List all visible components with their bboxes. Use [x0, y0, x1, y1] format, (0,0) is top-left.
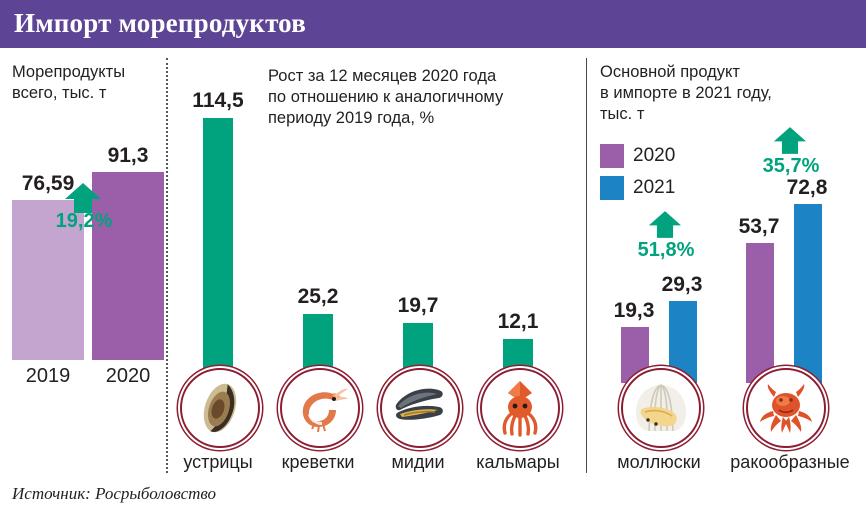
species-name-squid: кальмары	[458, 452, 578, 473]
legend-label-2021: 2021	[633, 177, 675, 199]
panel-growth-caption: Рост за 12 месяцев 2020 года по отношени…	[268, 66, 580, 129]
legend-label-2020: 2020	[633, 145, 675, 167]
crustaceans-bar-2020	[746, 243, 774, 383]
species-name-molluscs: моллюски	[599, 452, 719, 473]
species-medallion-mussels	[380, 368, 460, 448]
molluscs-growth-pct: 51,8%	[620, 239, 712, 262]
species-medallion-squid	[480, 368, 560, 448]
species-medallion-shrimp	[280, 368, 360, 448]
species-medallion-molluscs	[621, 368, 701, 448]
source-note: Источник: Росрыболовство	[12, 484, 216, 504]
molluscs-value-2021: 29,3	[656, 273, 708, 297]
legend-swatch-2020	[600, 144, 624, 168]
page-title: Импорт морепродуктов	[14, 8, 306, 39]
legend-item-2021: 2021	[600, 176, 675, 200]
squid-icon	[491, 379, 549, 437]
shrimp-icon	[291, 379, 349, 437]
molluscs-value-2020: 19,3	[608, 299, 660, 323]
panel-main-caption: Основной продукт в импорте в 2021 году, …	[600, 62, 850, 125]
total-value-2020: 91,3	[80, 144, 176, 168]
legend-swatch-2021	[600, 176, 624, 200]
divider-right	[586, 58, 587, 473]
growth-value-shrimp: 25,2	[283, 285, 353, 309]
total-growth-pct: 19,2%	[48, 210, 120, 233]
total-year-2019: 2019	[12, 365, 84, 388]
legend-item-2020: 2020	[600, 144, 675, 168]
crustaceans-value-2020: 53,7	[733, 215, 785, 239]
crustaceans-growth-pct: 35,7%	[745, 155, 837, 178]
growth-value-oysters: 114,5	[176, 89, 260, 113]
crustaceans-bar-2021	[794, 204, 822, 383]
mussel-icon	[391, 379, 449, 437]
species-medallion-crustaceans	[746, 368, 826, 448]
growth-value-mussels: 19,7	[383, 294, 453, 318]
total-year-2020: 2020	[92, 365, 164, 388]
divider-left	[166, 58, 168, 473]
infographic-root: Импорт морепродуктов Морепродукты всего,…	[0, 0, 866, 511]
species-name-crustaceans: ракообразные	[714, 452, 866, 473]
total-bar-2020	[92, 172, 164, 360]
growth-bar-oysters	[203, 118, 233, 383]
species-medallion-oysters	[180, 368, 260, 448]
oyster-icon	[191, 379, 249, 437]
crustaceans-value-2021: 72,8	[781, 176, 833, 200]
panel-total-caption: Морепродукты всего, тыс. т	[12, 62, 162, 104]
scallop-icon	[632, 379, 690, 437]
crab-icon	[757, 379, 815, 437]
growth-value-squid: 12,1	[483, 310, 553, 334]
